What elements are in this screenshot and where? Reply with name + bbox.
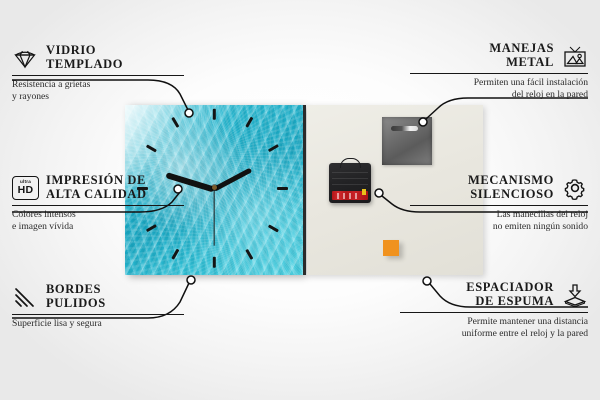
hour-tick: [213, 109, 216, 120]
foam-spacer-icon: [562, 283, 588, 307]
callout-impresion-alta-calidad: ultra HD IMPRESIÓN DEALTA CALIDAD Colore…: [12, 174, 190, 233]
callout-divider: [12, 314, 184, 315]
hanger-slot: [391, 126, 418, 131]
callout-title: MANEJASMETAL: [410, 42, 554, 69]
callout-title: ESPACIADORDE ESPUMA: [400, 281, 554, 308]
callout-manejas-metal: MANEJASMETAL Permiten una fácil instalac…: [410, 42, 588, 101]
callout-header: ESPACIADORDE ESPUMA: [400, 281, 588, 308]
battery-terminal: [362, 189, 366, 195]
callout-divider: [12, 205, 184, 206]
gear-icon: [562, 176, 588, 200]
callout-divider: [410, 205, 588, 206]
callout-header: VIDRIOTEMPLADO: [12, 44, 190, 71]
callout-description: Colores intensose imagen vívida: [12, 209, 190, 233]
ultra-hd-icon: ultra HD: [12, 176, 38, 200]
battery-compartment: [332, 191, 368, 200]
callout-description: Permite mantener una distanciauniforme e…: [400, 316, 588, 340]
callout-description: Permiten una fácil instalacióndel reloj …: [410, 77, 588, 101]
callout-description: Superficie lisa y segura: [12, 318, 190, 330]
polished-edges-icon: [12, 285, 38, 309]
callout-title: MECANISMOSILENCIOSO: [410, 174, 554, 201]
callout-title: VIDRIOTEMPLADO: [46, 44, 123, 71]
callout-description: Las manecillas del relojno emiten ningún…: [410, 209, 588, 233]
callout-divider: [410, 73, 588, 74]
callout-bordes-pulidos: BORDESPULIDOS Superficie lisa y segura: [12, 283, 190, 330]
callout-divider: [12, 75, 184, 76]
clock-mechanism-box: [329, 163, 371, 203]
hour-tick: [277, 187, 288, 190]
clock-center-pin: [212, 185, 217, 190]
callout-espaciador-de-espuma: ESPACIADORDE ESPUMA Permite mantener una…: [400, 281, 588, 340]
callout-header: ultra HD IMPRESIÓN DEALTA CALIDAD: [12, 174, 190, 201]
callout-header: MECANISMOSILENCIOSO: [410, 174, 588, 201]
callout-header: BORDESPULIDOS: [12, 283, 190, 310]
callout-mecanismo-silencioso: MECANISMOSILENCIOSO Las manecillas del r…: [410, 174, 588, 233]
callout-title: IMPRESIÓN DEALTA CALIDAD: [46, 174, 147, 201]
hd-icon-large-text: HD: [18, 185, 34, 196]
clock-second-hand: [213, 189, 214, 246]
foam-spacer-pad: [383, 240, 399, 256]
hour-tick: [213, 257, 216, 268]
metal-hanger-plate: [382, 117, 432, 165]
callout-description: Resistencia a grietasy rayones: [12, 79, 190, 103]
diamond-icon: [12, 46, 38, 70]
callout-divider: [400, 312, 588, 313]
mechanism-hook: [340, 158, 361, 168]
callout-vidrio-templado: VIDRIOTEMPLADO Resistencia a grietasy ra…: [12, 44, 190, 103]
hanging-frame-icon: [562, 44, 588, 68]
infographic-canvas: VIDRIOTEMPLADO Resistencia a grietasy ra…: [0, 0, 600, 400]
callout-header: MANEJASMETAL: [410, 42, 588, 69]
callout-title: BORDESPULIDOS: [46, 283, 106, 310]
